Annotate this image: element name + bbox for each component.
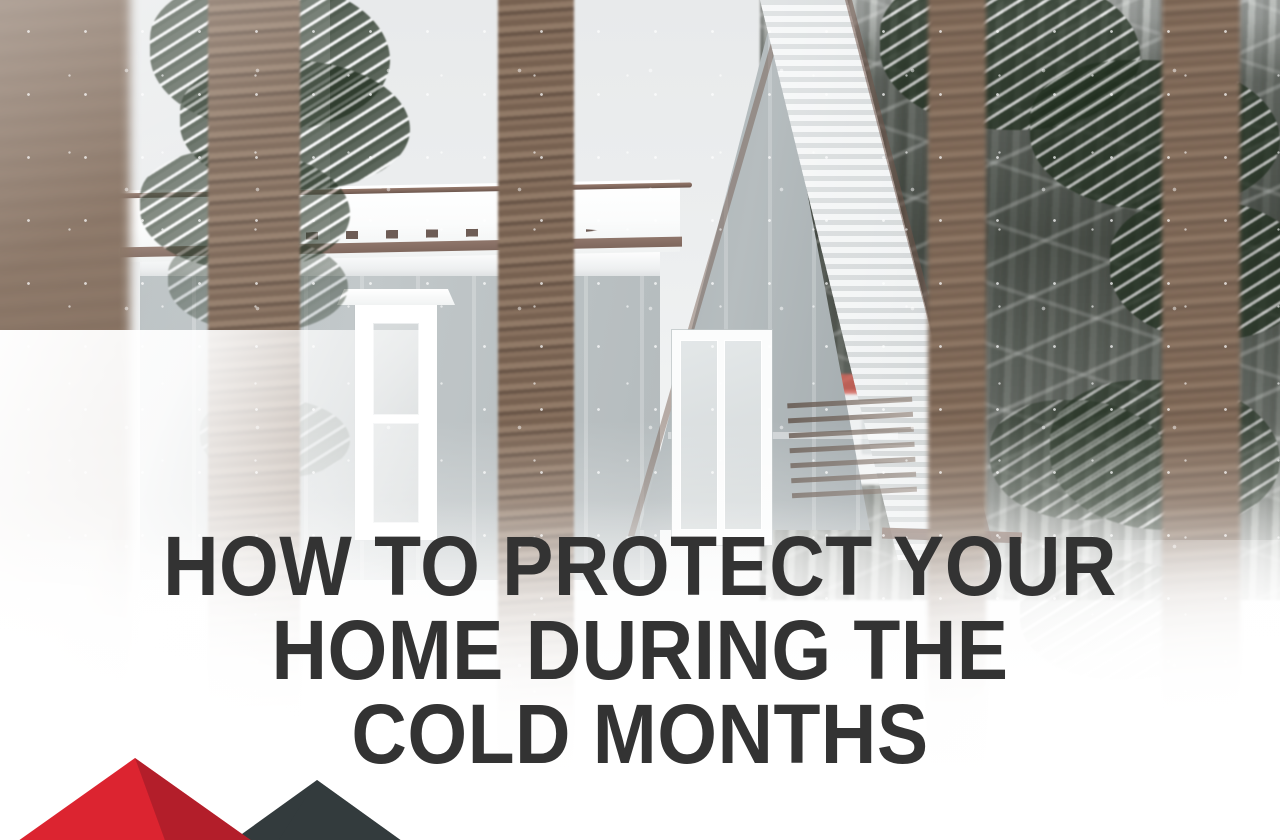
window-cornice	[337, 289, 455, 305]
title-line-2: HOME DURING THE	[54, 608, 1225, 692]
brand-logo[interactable]	[0, 730, 520, 840]
title-line-1: HOW TO PROTECT YOUR	[54, 524, 1225, 608]
poster-canvas: HOW TO PROTECT YOUR HOME DURING THE COLD…	[0, 0, 1280, 840]
